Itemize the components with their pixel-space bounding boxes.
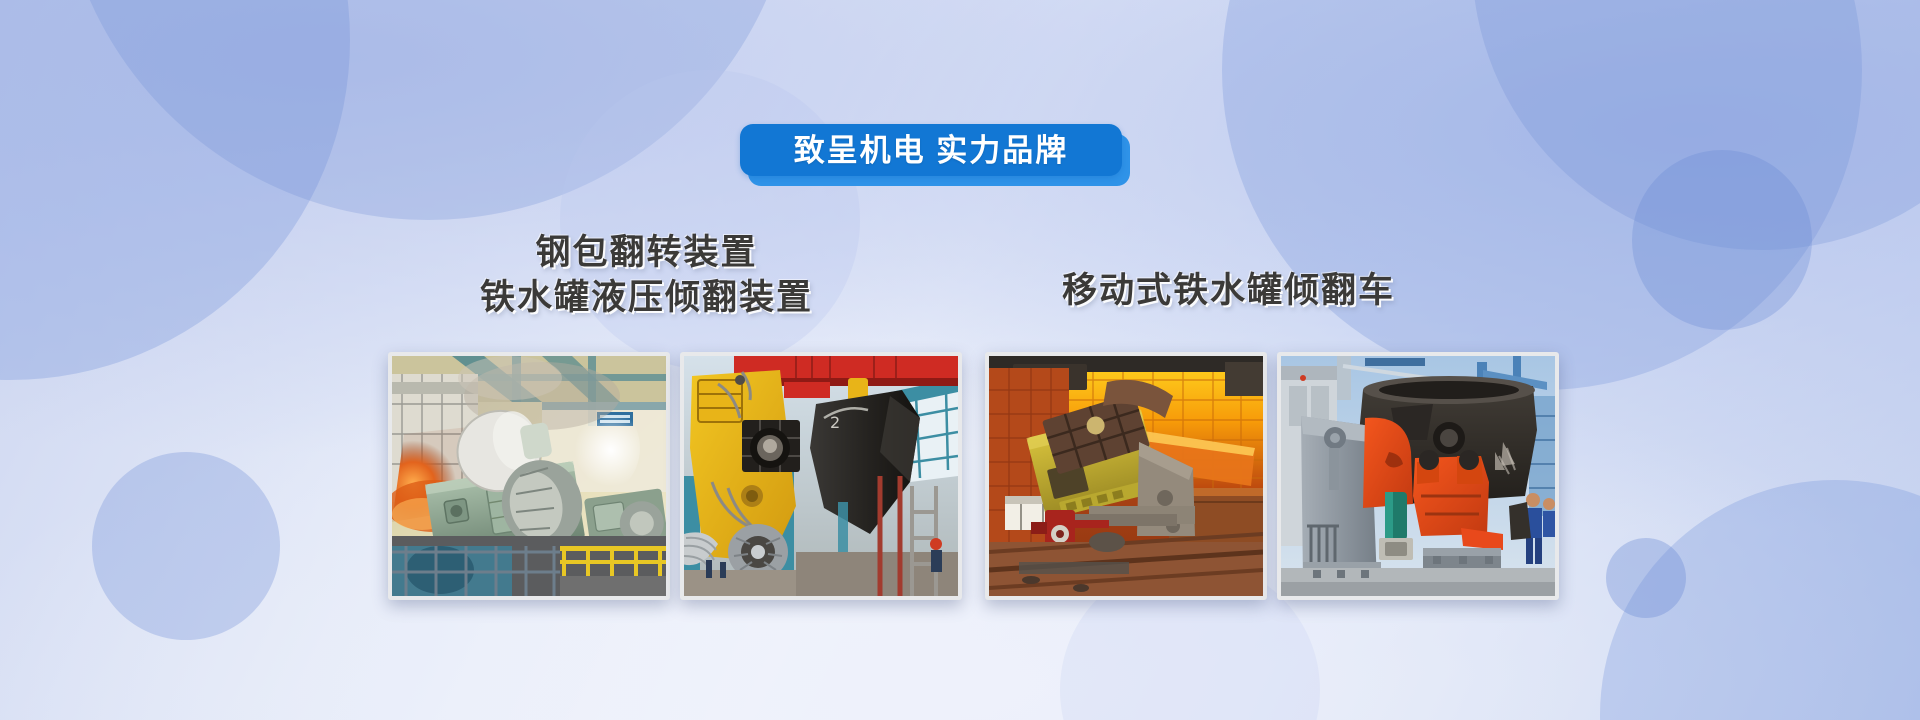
brand-badge: 致呈机电 实力品牌 <box>740 124 1122 176</box>
background-circle-6 <box>1632 150 1812 330</box>
background-circle-1 <box>0 0 350 380</box>
heading-left-line1: 钢包翻转装置 <box>480 232 813 273</box>
brand-badge-body: 致呈机电 实力品牌 <box>740 124 1122 176</box>
background-circle-5 <box>1472 0 1920 250</box>
background-circle-3 <box>92 452 280 640</box>
brand-badge-label: 致呈机电 实力品牌 <box>794 135 1069 166</box>
svg-text:2: 2 <box>830 413 840 432</box>
photo-4-image <box>1281 356 1555 596</box>
gallery-right <box>985 352 1559 600</box>
photo-mobile-tilting-car-outdoor[interactable] <box>1277 352 1559 600</box>
heading-left-line2: 铁水罐液压倾翻装置 <box>480 277 813 318</box>
background-circle-7 <box>1600 480 1920 720</box>
photo-mobile-tilting-car-furnace[interactable] <box>985 352 1267 600</box>
background-circle-2 <box>58 0 798 220</box>
background-circle-highlight <box>560 70 860 370</box>
photo-ladle-turning-device[interactable] <box>388 352 670 600</box>
photo-2-image: 2 <box>684 356 958 596</box>
heading-right: 移动式铁水罐倾翻车 <box>1062 270 1395 311</box>
gallery-left: 2 <box>388 352 962 600</box>
background-circle-8 <box>1606 538 1686 618</box>
heading-right-line1: 移动式铁水罐倾翻车 <box>1062 271 1395 310</box>
photo-3-image <box>989 356 1263 596</box>
banner-stage: 致呈机电 实力品牌 钢包翻转装置 铁水罐液压倾翻装置 移动式铁水罐倾翻车 <box>0 0 1920 720</box>
background-circle-4 <box>1222 0 1862 390</box>
photo-1-image <box>392 356 666 596</box>
photo-hydraulic-ladle-tilting-device[interactable]: 2 <box>680 352 962 600</box>
heading-left: 钢包翻转装置 铁水罐液压倾翻装置 <box>480 232 813 319</box>
